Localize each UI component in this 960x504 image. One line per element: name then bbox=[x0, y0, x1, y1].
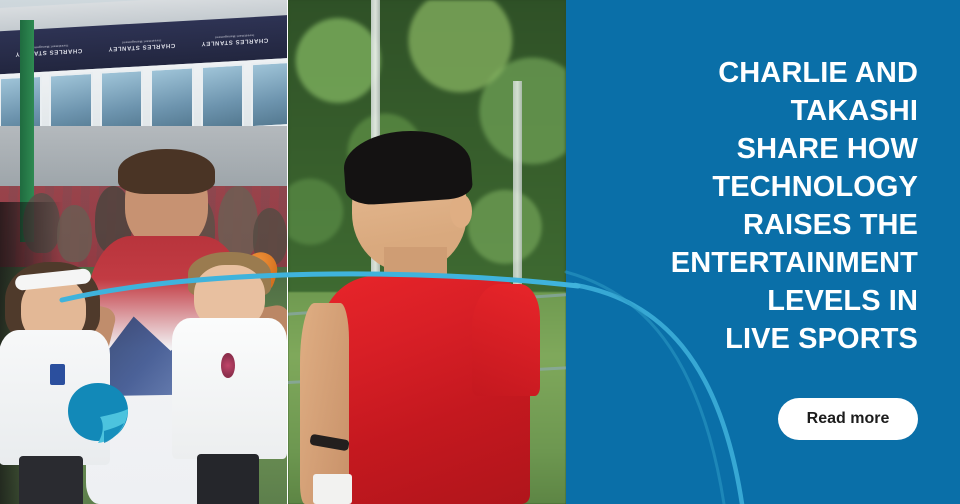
man-shoulder bbox=[472, 284, 540, 396]
sponsor-text: CHARLES STANLEY Investment Management bbox=[201, 32, 268, 46]
droplet-logo-mark bbox=[64, 381, 132, 447]
rose-crest-badge bbox=[221, 353, 234, 378]
promo-banner: CHARLES STANLEY Investment Management CH… bbox=[0, 0, 960, 504]
man-hair bbox=[342, 127, 474, 207]
boy-legs bbox=[197, 454, 259, 504]
shirt-crest-badge bbox=[50, 364, 64, 386]
photo-smiling-man-red-top bbox=[288, 0, 566, 504]
wrist-band-white bbox=[313, 474, 352, 504]
page-title: CHARLIE AND TAKASHI SHARE HOW TECHNOLOGY… bbox=[598, 54, 918, 358]
boy-white-shirt bbox=[172, 318, 287, 459]
read-more-button[interactable]: Read more bbox=[778, 398, 918, 440]
window-pane bbox=[150, 66, 193, 133]
girl-legs bbox=[19, 456, 83, 504]
photo-divider bbox=[287, 0, 288, 504]
window-pane bbox=[200, 63, 243, 130]
sponsor-text: CHARLES STANLEY Investment Management bbox=[108, 37, 175, 51]
man-ear bbox=[450, 194, 472, 228]
player-hair bbox=[118, 149, 214, 194]
window-pane bbox=[251, 60, 287, 127]
man-figure bbox=[310, 131, 555, 504]
photo-rugby-player-with-children: CHARLES STANLEY Investment Management CH… bbox=[0, 0, 287, 504]
child-boy-figure bbox=[178, 252, 281, 504]
